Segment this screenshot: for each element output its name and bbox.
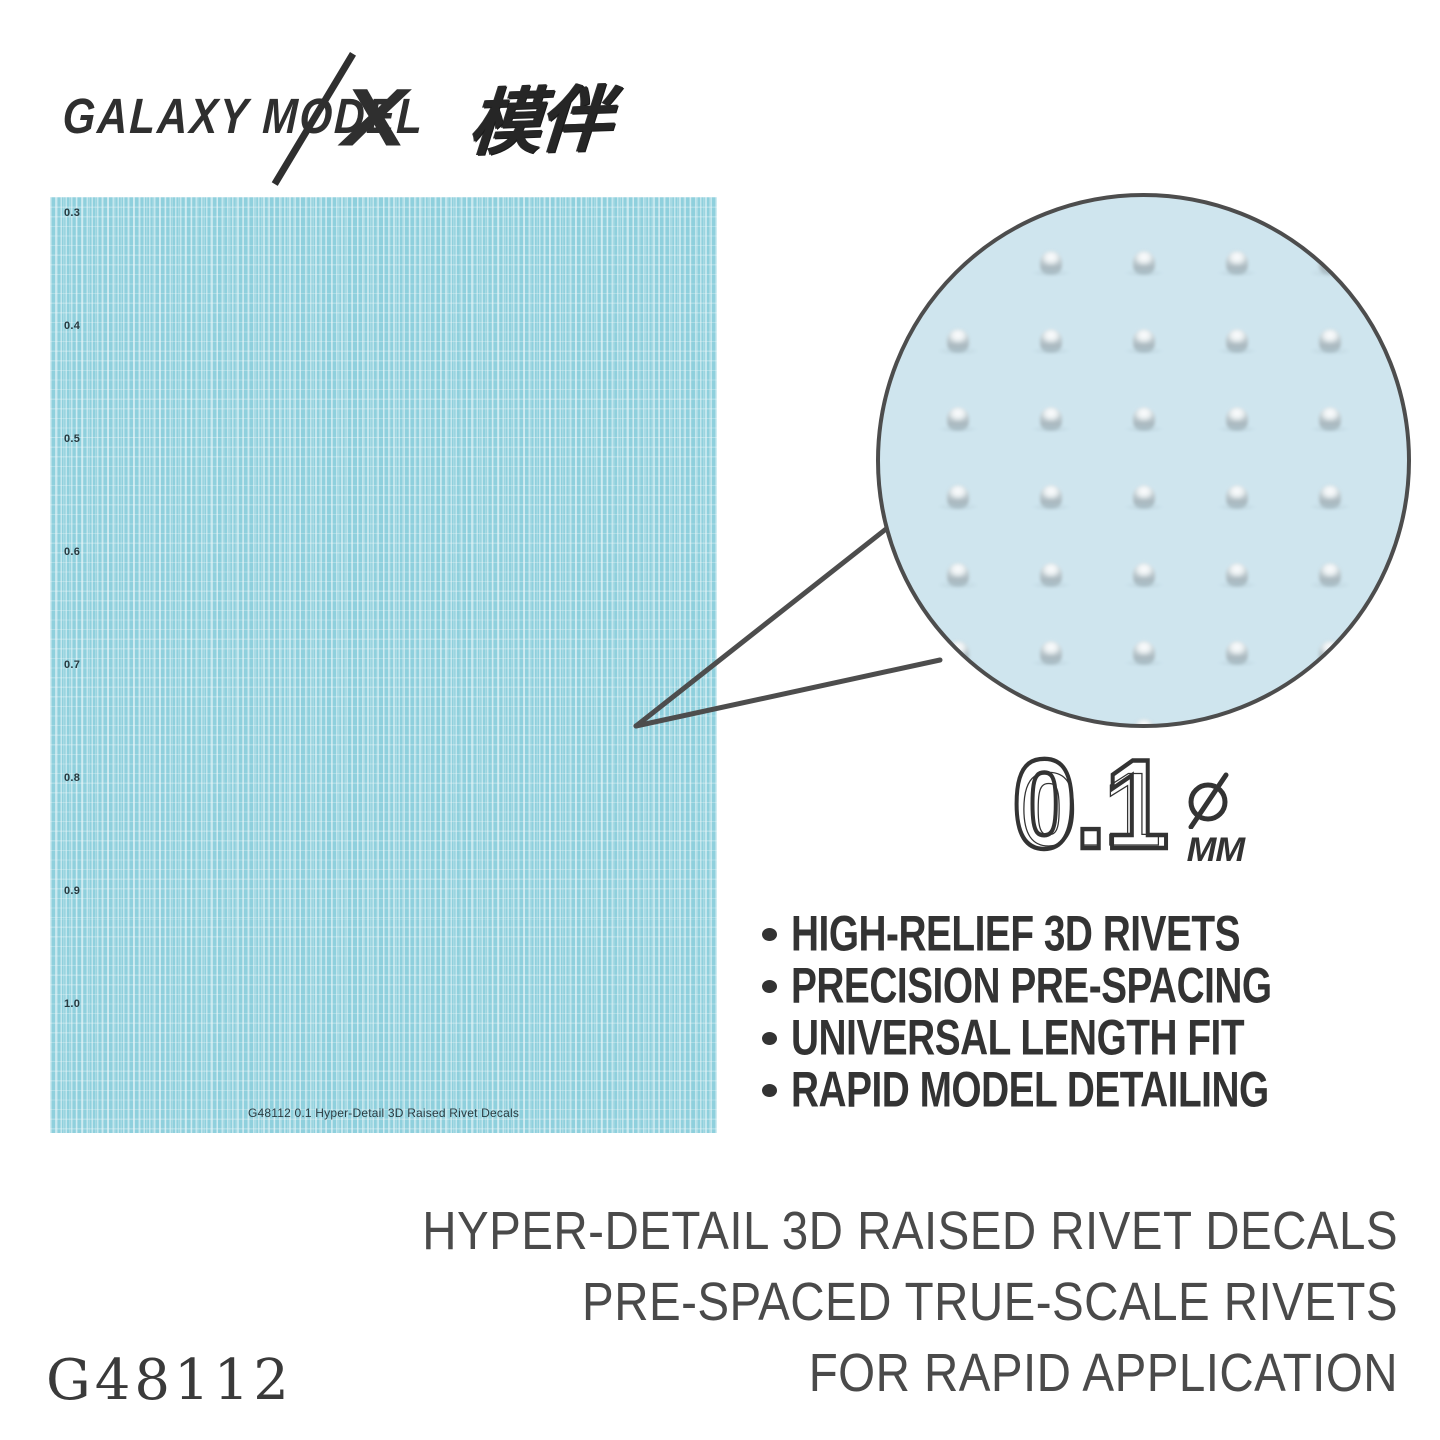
rivet-dome: [1133, 485, 1155, 509]
rivet-dome: [1226, 641, 1248, 665]
rivet-dome: [947, 563, 969, 587]
feature-bullet-item: RAPID MODEL DETAILING: [762, 1064, 1412, 1116]
brand-logo: GALAXY MODEL X 模伴: [52, 48, 632, 168]
rivet-dome: [1319, 563, 1341, 587]
rivet-dome: [1226, 251, 1248, 275]
product-poster: GALAXY MODEL X 模伴 0.30.40.50.60.70.80.91…: [0, 0, 1440, 1440]
diameter-icon: [1182, 771, 1234, 829]
rivet-dome: [1133, 251, 1155, 275]
title-line-3: FOR RAPID APPLICATION: [412, 1338, 1398, 1409]
rivet-dome: [1040, 329, 1062, 353]
rivet-texture-bands: [50, 197, 717, 1133]
rivet-dome: [947, 641, 969, 665]
rivet-dome: [1133, 563, 1155, 587]
brand-x-mark: X: [342, 70, 407, 166]
spacing-label: 0.9: [64, 885, 80, 897]
spacing-label: 0.3: [64, 207, 80, 219]
rivet-dome: [1040, 563, 1062, 587]
bullet-dot-icon: [762, 1032, 777, 1045]
spacing-label: 0.6: [64, 546, 80, 558]
feature-bullet-list: HIGH-RELIEF 3D RIVETSPRECISION PRE-SPACI…: [762, 908, 1412, 1116]
rivet-grid: [876, 193, 1411, 728]
bullet-dot-icon: [762, 928, 777, 941]
rivet-dome: [947, 485, 969, 509]
diameter-badge: 0.1 0.1 MM: [1012, 757, 1167, 867]
feature-bullet-label: RAPID MODEL DETAILING: [791, 1062, 1269, 1119]
rivet-dome: [1226, 485, 1248, 509]
feature-bullet-item: UNIVERSAL LENGTH FIT: [762, 1012, 1412, 1064]
feature-bullet-label: HIGH-RELIEF 3D RIVETS: [791, 906, 1240, 963]
rivet-dome: [1040, 251, 1062, 275]
rivet-dome: [1319, 485, 1341, 509]
rivet-dome: [947, 407, 969, 431]
decal-sheet: 0.30.40.50.60.70.80.91.0 G48112 0.1 Hype…: [50, 197, 717, 1133]
title-line-2: PRE-SPACED TRUE-SCALE RIVETS: [412, 1267, 1398, 1338]
feature-bullet-item: HIGH-RELIEF 3D RIVETS: [762, 908, 1412, 960]
rivet-dome: [1133, 329, 1155, 353]
rivet-dome: [947, 329, 969, 353]
rivet-dome: [1133, 641, 1155, 665]
rivet-dome: [1226, 563, 1248, 587]
rivet-dome: [1133, 407, 1155, 431]
product-code: G48112: [46, 1348, 293, 1413]
magnifier-circle: [876, 193, 1411, 728]
spacing-label: 0.8: [64, 772, 80, 784]
feature-bullet-label: UNIVERSAL LENGTH FIT: [791, 1010, 1244, 1067]
rivet-dome: [1226, 407, 1248, 431]
rivet-dome: [1319, 329, 1341, 353]
bullet-dot-icon: [762, 1084, 777, 1097]
feature-bullet-item: PRECISION PRE-SPACING: [762, 960, 1412, 1012]
spacing-label: 1.0: [64, 998, 80, 1010]
rivet-dome: [1226, 329, 1248, 353]
spacing-label: 0.5: [64, 433, 80, 445]
bullet-dot-icon: [762, 980, 777, 993]
product-title: HYPER-DETAIL 3D RAISED RIVET DECALS PRE-…: [278, 1196, 1398, 1409]
spacing-label: 0.4: [64, 320, 80, 332]
rivet-dome: [1133, 719, 1155, 728]
badge-value: 0.1: [1012, 747, 1167, 861]
rivet-dome: [1319, 407, 1341, 431]
rivet-dome: [1040, 641, 1062, 665]
rivet-dome: [1319, 641, 1341, 665]
rivet-dome: [1040, 485, 1062, 509]
feature-bullet-label: PRECISION PRE-SPACING: [791, 958, 1272, 1015]
sheet-caption: G48112 0.1 Hyper-Detail 3D Raised Rivet …: [50, 1106, 717, 1120]
brand-name-chinese: 模伴: [466, 60, 614, 170]
title-line-1: HYPER-DETAIL 3D RAISED RIVET DECALS: [412, 1196, 1398, 1267]
rivet-dome: [1319, 251, 1341, 275]
rivet-dome: [1040, 407, 1062, 431]
badge-unit: MM: [1187, 831, 1244, 870]
spacing-label: 0.7: [64, 659, 80, 671]
